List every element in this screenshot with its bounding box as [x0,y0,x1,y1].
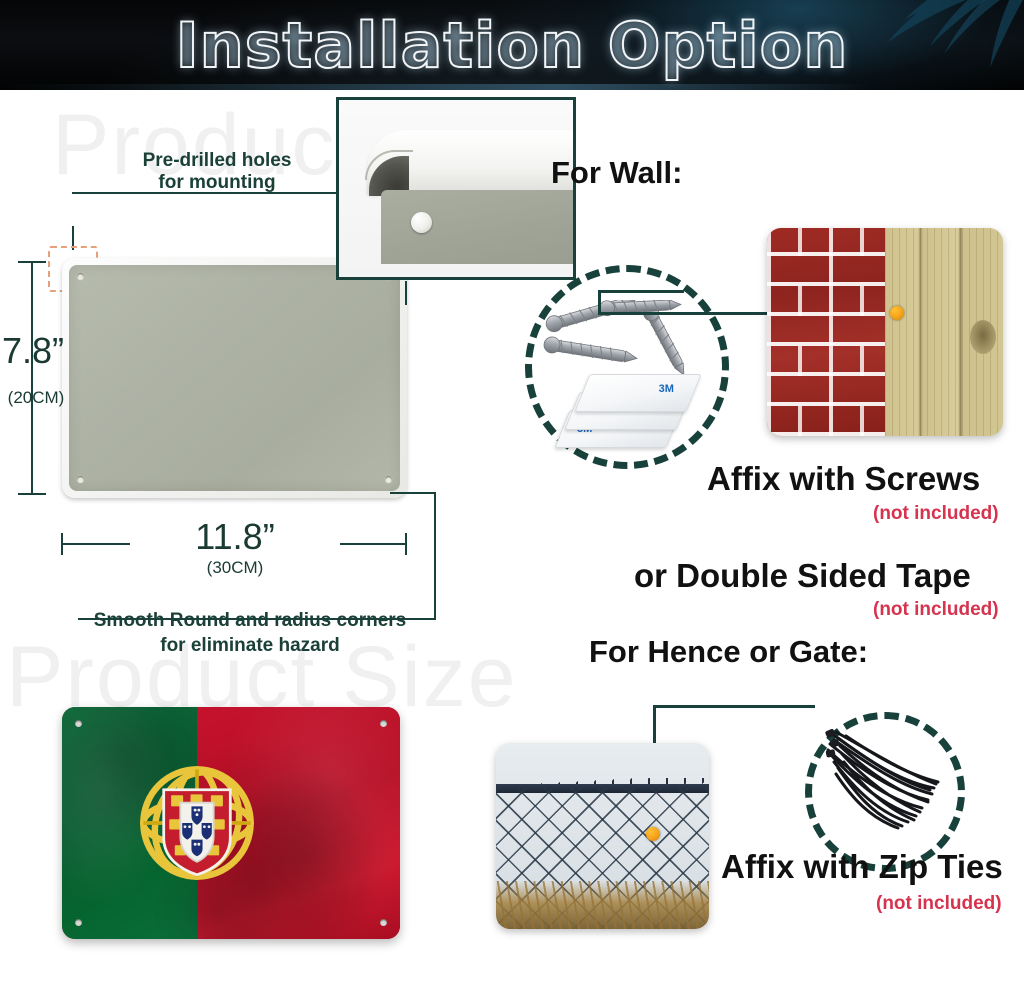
width-dimension-cap-right [405,533,407,555]
fence-leader-line [653,705,815,708]
wood-texture [885,228,1003,436]
mounting-hole-bottom-left [77,476,84,483]
width-dimension-cap-left [61,533,63,555]
mounting-hole-top-left [77,273,84,280]
page-title: Installation Option [0,0,1024,90]
brick-offset-joints [767,228,885,436]
width-value: 11.8” [130,516,340,558]
header-banner: Installation Option [0,0,1024,90]
blank-sign-diagram [62,258,407,498]
label-double-sided-tape: or Double Sided Tape [634,557,971,595]
note-screws-not-included: (not included) [873,503,999,525]
portugal-flag-sign-preview [62,707,400,939]
height-value: 7.8” [0,330,66,372]
mounting-hole-bottom-right [385,476,392,483]
zoom-inset-drop [405,281,407,305]
wall-leader-top [598,290,684,293]
flag-mounting-hole-top-left [75,720,82,727]
callout-corners-line2: for eliminate hazard [60,635,440,658]
inset-mounting-hole [411,212,432,233]
fence-dry-grass [496,881,709,929]
height-dimension-cap-top [18,261,46,263]
flag-mounting-hole-bottom-right [380,919,387,926]
callout-corners-line1: Smooth Round and radius corners [94,610,406,631]
section-heading-wall: For Wall: [551,155,682,191]
width-metric: (30CM) [145,558,325,578]
zip-ties-icon [818,728,954,848]
double-sided-tape-pads-icon: 3M 3M 3M [558,372,706,452]
wood-knot [970,320,996,354]
inset-sign-face [381,190,576,264]
wall-leader-riser [598,290,601,314]
note-tape-not-included: (not included) [873,599,999,621]
wall-leader-line [598,312,782,315]
flag-mounting-hole-bottom-left [75,919,82,926]
brick-texture [767,228,885,436]
corners-leader-riser [434,492,436,620]
blank-sign-face [69,265,400,491]
photo-brick-wood-wall [767,228,1003,436]
mount-point-marker [890,306,904,320]
zoom-inset-leader [298,192,340,194]
tape-pad-top: 3M [574,374,701,412]
label-affix-with-zip-ties: Affix with Zip Ties [721,848,1003,886]
fence-leader-riser-right [653,705,656,735]
corner-macro-inset [336,97,576,280]
banner-glow [0,84,1024,90]
callout-smooth-corners: Smooth Round and radius corners for elim… [60,610,440,658]
note-ties-not-included: (not included) [876,893,1002,915]
section-heading-fence: For Hence or Gate: [589,634,868,670]
flag-mounting-hole-top-right [380,720,387,727]
infographic-page: Installation Option Product Size Product… [0,0,1024,989]
portugal-coat-of-arms-icon [123,749,271,897]
height-dimension-cap-bottom [18,493,46,495]
mount-point-marker [646,827,660,841]
callout-predrilled-line2: for mounting [158,172,275,193]
height-metric: (20CM) [0,388,72,408]
corners-leader-top [390,492,436,494]
label-affix-with-screws: Affix with Screws [707,460,980,498]
photo-chain-link-fence [496,743,709,929]
callout-predrilled-line1: Pre-drilled holes [143,150,292,171]
tape-brand-mark: 3M [659,383,674,395]
height-dimension-line [31,262,33,494]
callout-predrilled-holes: Pre-drilled holes for mounting [72,150,362,195]
